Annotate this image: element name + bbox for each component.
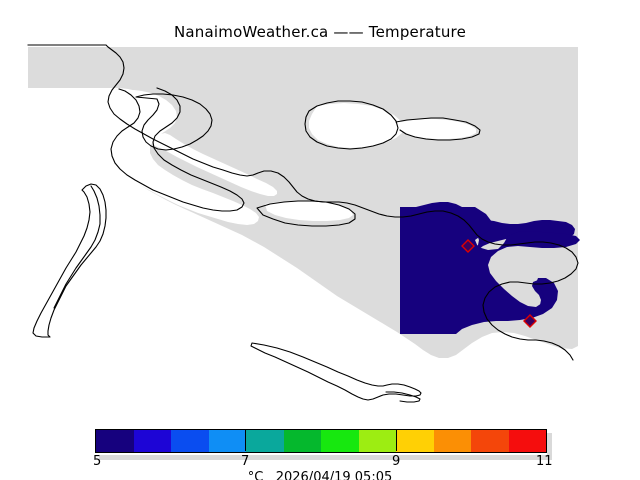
colorbar-segment-4 <box>246 430 284 452</box>
colorbar-caption: °C 2026/04/19 05:05 <box>0 470 640 480</box>
colorbar-segment-11 <box>509 430 547 452</box>
colorbar-segment-3 <box>209 430 247 452</box>
map-plot-area[interactable] <box>20 44 620 416</box>
coastline-island-south <box>251 343 421 400</box>
colorbar-segment-1 <box>134 430 172 452</box>
map-svg <box>20 44 620 416</box>
weather-map-page: NanaimoWeather.ca —— Temperature <box>0 0 640 480</box>
colorbar-segment-8 <box>396 430 434 452</box>
colorbar-label-9: 9 <box>392 454 400 469</box>
colorbar-segment-0 <box>96 430 134 452</box>
colorbar-segment-6 <box>321 430 359 452</box>
coastline-island-west <box>33 184 106 337</box>
colorbar-gradient[interactable] <box>95 429 547 453</box>
colorbar-tick-7 <box>245 429 246 451</box>
colorbar-segment-10 <box>471 430 509 452</box>
page-title: NanaimoWeather.ca —— Temperature <box>0 23 640 41</box>
colorbar-segment-5 <box>284 430 322 452</box>
colorbar-segment-9 <box>434 430 472 452</box>
colorbar-segment-7 <box>359 430 397 452</box>
colorbar-label-max: 11 <box>536 454 553 469</box>
colorbar-legend: 5 7 9 11 °C 2026/04/19 05:05 <box>0 424 640 480</box>
colorbar-shadow-bottom <box>99 455 551 460</box>
colorbar-label-7: 7 <box>241 454 249 469</box>
colorbar-label-min: 5 <box>93 454 101 469</box>
coastline-island-west-inner <box>54 186 100 308</box>
colorbar-tick-9 <box>396 429 397 451</box>
colorbar-segment-2 <box>171 430 209 452</box>
